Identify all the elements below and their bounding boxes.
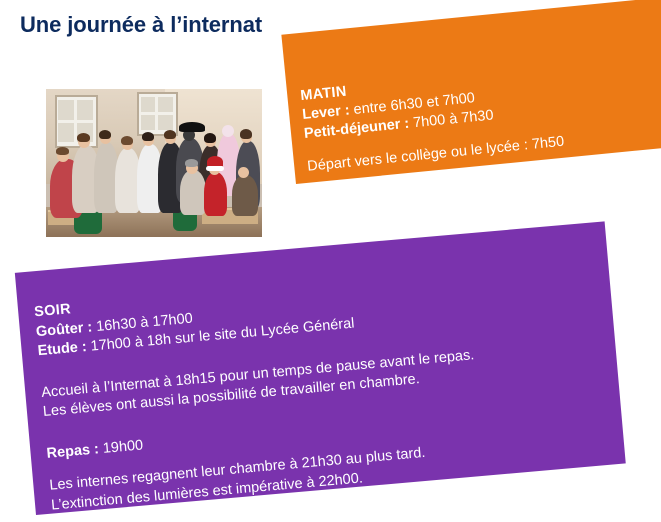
photo-window-left	[55, 95, 98, 148]
photo-person-hair	[99, 130, 111, 139]
group-photo	[46, 89, 262, 237]
slide-canvas: Une journée à l’internat	[0, 0, 661, 522]
photo-person-seated	[180, 170, 206, 214]
photo-person-hair	[56, 147, 69, 155]
evening-panel	[15, 221, 626, 515]
photo-person-hair	[77, 133, 90, 142]
photo-person-seated	[232, 175, 258, 216]
photo-person-hair	[121, 136, 133, 145]
photo-person-hair	[164, 130, 176, 139]
santa-hat-icon	[207, 156, 223, 168]
photo-person-head	[222, 125, 234, 137]
morning-panel	[281, 0, 661, 184]
page-title: Une journée à l’internat	[20, 12, 262, 38]
photo-person-santa	[204, 172, 228, 216]
photo-person-hair	[204, 133, 216, 143]
photo-person-hair	[142, 132, 154, 141]
photo-person-hair	[240, 129, 252, 139]
pirate-hat-icon	[179, 122, 205, 132]
photo-person-hair	[185, 159, 198, 167]
photo-scene	[46, 89, 262, 237]
